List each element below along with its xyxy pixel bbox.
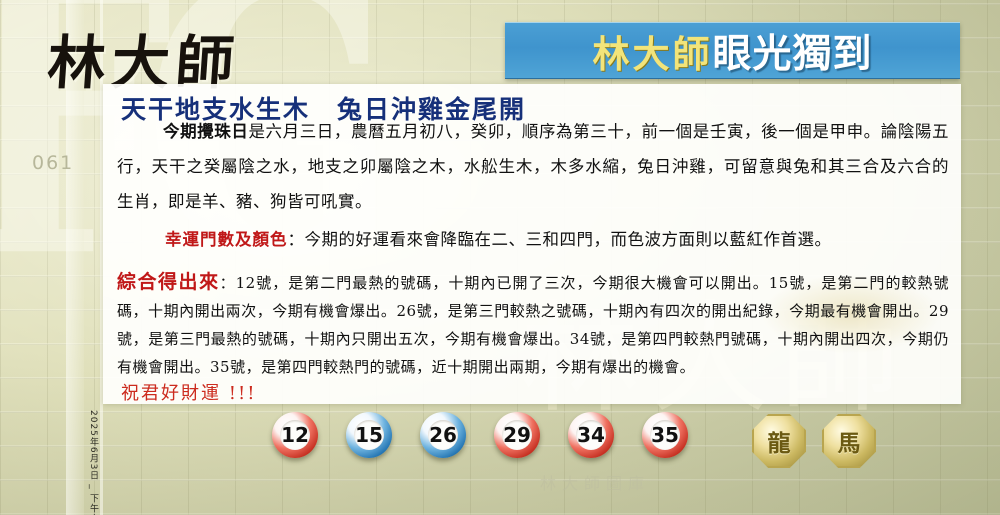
bottom-watermark: 林大師圖庫 xyxy=(540,470,650,494)
date-strip: 2025年6月3日 _ 下午六時圖庫 xyxy=(84,410,100,510)
closing-wish: 祝君好財運 !!! xyxy=(121,379,256,405)
ball-number: 15 xyxy=(355,423,383,447)
paragraph-1-lead: 今期攪珠日 xyxy=(163,122,248,141)
lottery-ball: 15 xyxy=(346,412,392,458)
issue-number: 061 xyxy=(32,152,74,174)
lottery-ball: 26 xyxy=(420,412,466,458)
zodiac-medal-dragon: 龍 xyxy=(752,414,806,468)
lottery-ball: 29 xyxy=(494,412,540,458)
paragraph-3-body: ：12號，是第二門最熱的號碼，十期內已開了三次，今期很大機會可以開出。15號，是… xyxy=(117,274,949,376)
lottery-ball-row: 12 15 26 29 34 35 xyxy=(272,412,688,458)
ball-number: 35 xyxy=(651,423,679,447)
ball-number: 29 xyxy=(503,423,531,447)
article-paragraph-2: 幸運門數及顏色：今期的好運看來會降臨在二、三和四門，而色波方面則以藍紅作首選。 xyxy=(165,222,949,257)
article-paragraph-3: 綜合得出來：12號，是第二門最熱的號碼，十期內已開了三次，今期很大機會可以開出。… xyxy=(117,268,949,381)
zodiac-medal-horse: 馬 xyxy=(822,414,876,468)
lottery-ball: 12 xyxy=(272,412,318,458)
header-banner: 林大師 眼光獨到 xyxy=(505,22,960,79)
lottery-ball: 35 xyxy=(642,412,688,458)
zodiac-medal-row: 龍 馬 xyxy=(752,414,876,468)
article-paragraph-1: 今期攪珠日是六月三日，農曆五月初八，癸卯，順序為第三十，前一個是壬寅，後一個是甲… xyxy=(117,114,949,219)
banner-highlight-text: 林大師 xyxy=(592,24,712,78)
poster-page: FG 林大師 061 2025年6月3日 _ 下午六時圖庫 林大師 林大師 眼光… xyxy=(0,0,1000,515)
article-sheet: 天干地支水生木 兔日沖雞金尾開 今期攪珠日是六月三日，農曆五月初八，癸卯，順序為… xyxy=(103,84,961,404)
ball-number: 12 xyxy=(281,423,309,447)
lucky-gate-label: 幸運門數及顏色 xyxy=(165,230,288,249)
banner-text: 眼光獨到 xyxy=(712,23,872,79)
lottery-ball: 34 xyxy=(568,412,614,458)
ball-number: 34 xyxy=(577,423,605,447)
ball-number: 26 xyxy=(429,423,457,447)
summary-label: 綜合得出來 xyxy=(117,271,220,293)
paragraph-2-body: ：今期的好運看來會降臨在二、三和四門，而色波方面則以藍紅作首選。 xyxy=(288,230,832,249)
